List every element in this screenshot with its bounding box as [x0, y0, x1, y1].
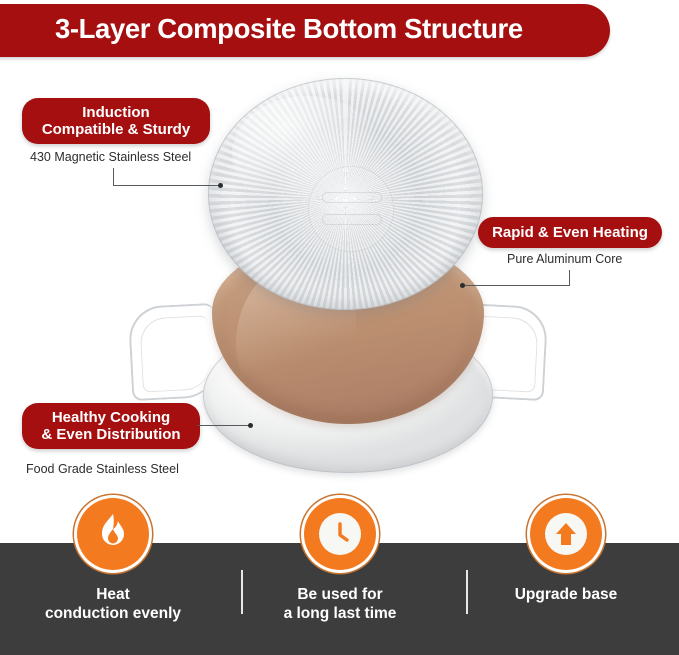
callout-induction-line1: Induction — [82, 104, 150, 121]
footer-feature-upgrade-base: Upgrade base — [453, 498, 679, 605]
footer-feature-heat-conduction: Heat conduction evenly — [0, 498, 226, 623]
leader-line-healthy-horizontal — [197, 425, 251, 426]
callout-pill-induction: Induction Compatible & Sturdy — [22, 98, 210, 144]
leader-dot-healthy — [248, 423, 253, 428]
stamp-bar-upper — [322, 192, 382, 203]
feature-label-1: Heat conduction evenly — [0, 586, 226, 623]
callout-caption-induction: 430 Magnetic Stainless Steel — [30, 150, 191, 164]
leader-dot-induction — [218, 183, 223, 188]
feature-icon-badge-2 — [304, 498, 376, 570]
leader-line-heating-vertical — [569, 270, 570, 286]
callout-healthy-line2: & Even Distribution — [41, 426, 180, 443]
callout-pill-healthy-cooking: Healthy Cooking & Even Distribution — [22, 403, 200, 449]
callout-caption-heating: Pure Aluminum Core — [507, 252, 622, 266]
leader-dot-heating — [460, 283, 465, 288]
callout-heating-line1: Rapid & Even Heating — [492, 224, 648, 241]
leader-line-heating-horizontal — [463, 285, 570, 286]
feature-icon-badge-1 — [77, 498, 149, 570]
callout-induction-line2: Compatible & Sturdy — [42, 121, 190, 138]
footer-feature-long-lasting: Be used for a long last time — [227, 498, 453, 623]
arrow-up-icon — [545, 513, 587, 555]
leader-line-induction-horizontal — [113, 185, 221, 186]
product-infographic: 3-Layer Composite Bottom Structure Induc… — [0, 0, 679, 655]
callout-healthy-line1: Healthy Cooking — [52, 409, 170, 426]
flame-icon — [96, 513, 130, 556]
embossed-maker-stamp — [308, 166, 394, 252]
clock-icon — [319, 513, 361, 555]
feature-label-3: Upgrade base — [453, 586, 679, 605]
callout-pill-heating: Rapid & Even Heating — [478, 217, 662, 248]
feature-icon-badge-3 — [530, 498, 602, 570]
leader-line-induction-vertical — [113, 168, 114, 186]
stamp-bar-lower — [322, 214, 382, 225]
feature-label-2: Be used for a long last time — [227, 586, 453, 623]
callout-caption-healthy-cooking: Food Grade Stainless Steel — [26, 462, 179, 476]
